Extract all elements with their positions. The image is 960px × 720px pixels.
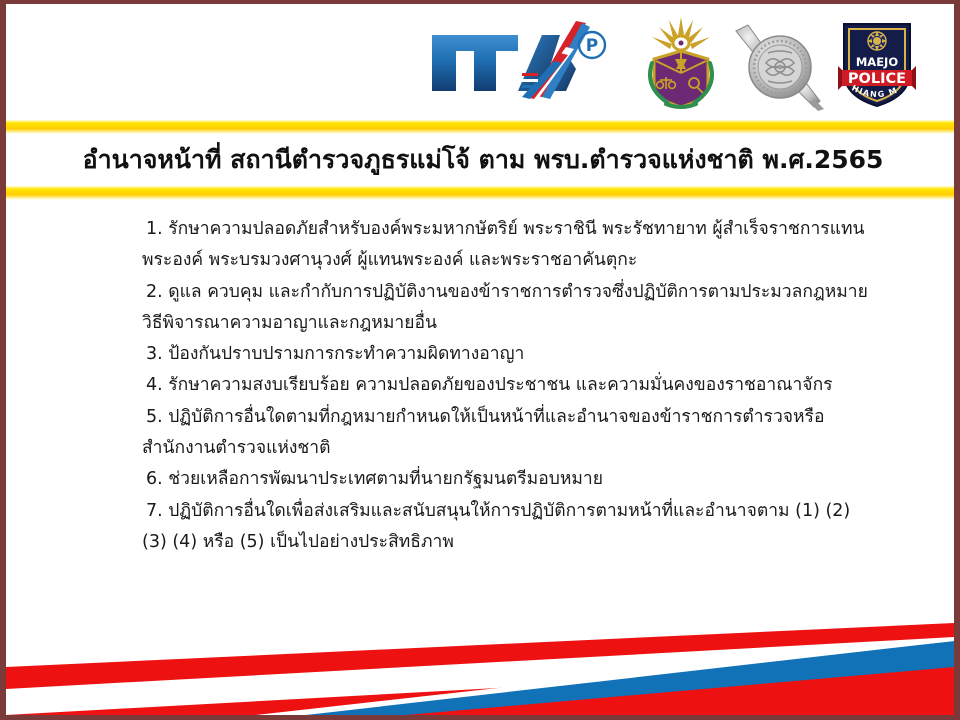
list-item: 6. ช่วยเหลือการพัฒนาประเทศตามที่นายกรัฐม… [146, 464, 876, 495]
list-item: 3. ป้องกันปราบปรามการกระทำความผิดทางอาญา [146, 339, 876, 370]
badge-text-maejo: MAEJO [856, 55, 898, 69]
silver-ceremonial-emblem-graphic [734, 15, 826, 111]
svg-text:P: P [586, 36, 598, 56]
slide-canvas: P [0, 0, 960, 720]
royal-thai-police-emblem [638, 15, 724, 111]
content-list: 1. รักษาความปลอดภัยสำหรับองค์พระมหากษัตร… [146, 214, 876, 558]
list-item: 1. รักษาความปลอดภัยสำหรับองค์พระมหากษัตร… [146, 214, 876, 245]
list-item: พระองค์ พระบรมวงศานุวงศ์ ผู้แทนพระองค์ แ… [142, 245, 876, 276]
list-item: วิธีพิจารณาความอาญาและกฎหมายอื่น [142, 308, 876, 339]
header-logo-row: P [6, 10, 954, 116]
banner-stripe-top [6, 120, 954, 134]
ita-logo: P [426, 17, 616, 109]
footer-ribbon-graphic [6, 585, 954, 715]
footer-ribbon [6, 585, 954, 715]
ita-logo-graphic: P [426, 17, 616, 109]
maejo-police-badge-graphic: MAEJO POLICE CHIANG MAI [838, 16, 916, 110]
banner-stripe-bottom [6, 186, 954, 200]
list-item: 7. ปฏิบัติการอื่นใดเพื่อส่งเสริมและสนับส… [146, 496, 876, 527]
list-item: สำนักงานตำรวจแห่งชาติ [142, 433, 876, 464]
silver-ceremonial-emblem [734, 15, 826, 111]
page-title: อำนาจหน้าที่ สถานีตำรวจภูธรแม่โจ้ ตาม พร… [77, 140, 884, 180]
list-item: 2. ดูแล ควบคุม และกำกับการปฏิบัติงานของข… [146, 277, 876, 308]
title-banner: อำนาจหน้าที่ สถานีตำรวจภูธรแม่โจ้ ตาม พร… [6, 134, 954, 186]
list-item: 5. ปฏิบัติการอื่นใดตามที่กฎหมายกำหนดให้เ… [146, 402, 876, 433]
list-item: 4. รักษาความสงบเรียบร้อย ความปลอดภัยของป… [146, 370, 876, 401]
royal-thai-police-emblem-graphic [638, 15, 724, 111]
maejo-police-badge: MAEJO POLICE CHIANG MAI [838, 16, 916, 110]
list-item: (3) (4) หรือ (5) เป็นไปอย่างประสิทธิภาพ [142, 527, 876, 558]
